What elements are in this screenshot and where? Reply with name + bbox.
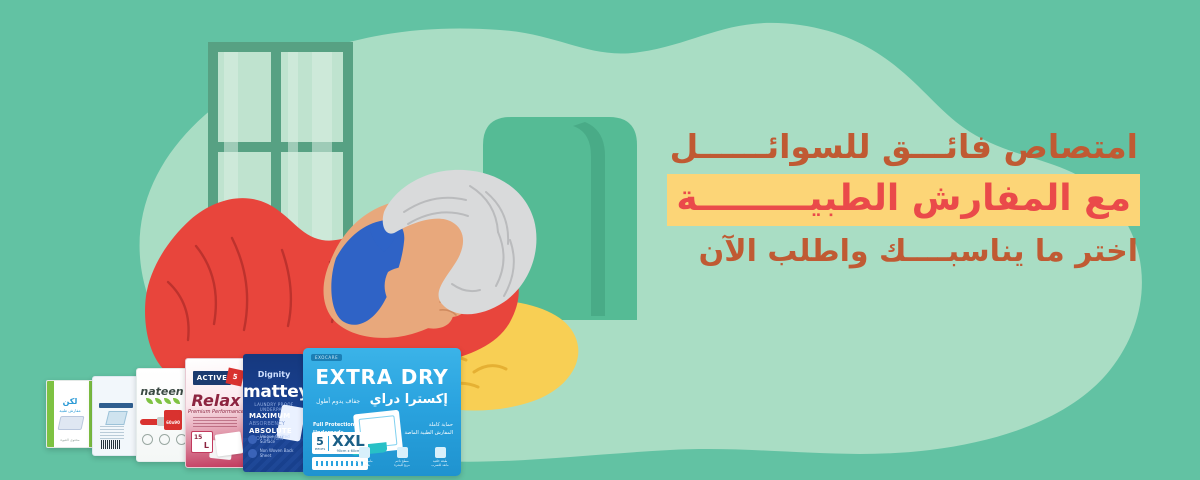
pack6-title-arabic: إكسترا دراي جفاف يدوم أطول <box>303 392 461 407</box>
product-pack-active-relax[interactable]: ACTIVE 5 Relax Premium Performance 15 L <box>185 358 247 468</box>
pack6-feature-icons: ماص للسوائل بقوة عالية سطح ناعم مريح للب… <box>349 447 455 468</box>
softness-icon <box>397 447 408 458</box>
promotional-banner: امتصاص فائـــق للسوائــــــل مع المفارش … <box>0 0 1200 480</box>
pack5-bullet-icon-1 <box>248 435 257 444</box>
pack4-size-badge: 15 L <box>191 431 213 453</box>
pack5-product-name: mattey <box>243 382 305 402</box>
pack5-bullet-1: Unique Quilted Surface <box>260 434 305 444</box>
pack5-bullet-2: Non Woven Back Sheet <box>260 448 305 458</box>
pack3-size-text: 60x90 <box>164 420 182 425</box>
pack3-brand: nateen <box>137 385 187 398</box>
headline-line-2: مع المفارش الطبيـــــــــة <box>676 181 1131 217</box>
product-pack-nateen[interactable]: nateen 60x90 <box>136 368 188 462</box>
headline-highlight-band: مع المفارش الطبيـــــــــة <box>667 174 1140 226</box>
pack6-feature-2-line2: مريح للبشرة <box>387 464 417 468</box>
pack4-count: 15 <box>194 434 202 441</box>
pack3-leaf-icons <box>146 398 180 404</box>
pack2-pad-image <box>105 411 127 425</box>
product-pack-underpad-sterile[interactable] <box>92 376 140 456</box>
pack6-count: 5 <box>312 436 328 447</box>
headline-line-1: امتصاص فائـــق للسوائــــــل <box>640 130 1140 163</box>
pack1-footer: محتوى العبوة <box>47 438 93 442</box>
pack5-claim-1: MAXIMUM <box>249 412 292 421</box>
pack4-product-name: Relax <box>186 391 246 410</box>
headline-block: امتصاص فائـــق للسوائــــــل مع المفارش … <box>640 130 1140 267</box>
pack2-brand-bar <box>99 403 133 408</box>
pack4-tagline: Premium Performance <box>186 409 246 415</box>
pack6-title-ar-main: إكسترا دراي <box>370 392 448 407</box>
pack6-title: EXTRA DRY <box>303 365 461 389</box>
droplet-icon <box>359 447 370 458</box>
product-lineup: لكن مفارش طبية محتوى العبوة nateen 60x90 <box>0 320 480 480</box>
pack1-subtitle: مفارش طبية <box>47 408 93 413</box>
pack4-pad-front <box>215 431 244 456</box>
pack1-brand: لكن <box>47 397 93 406</box>
pack4-description-lines <box>193 417 237 429</box>
pack6-feature-1: ماص للسوائل بقوة عالية <box>349 447 379 468</box>
pack6-feature-2: سطح ناعم مريح للبشرة <box>387 447 417 468</box>
pack6-feature-right: حماية كاملة المفارش الطبية الماصة <box>404 422 453 437</box>
pack6-feature-left-1: Full Protection <box>313 422 354 430</box>
pack2-barcode <box>101 440 121 449</box>
shield-icon <box>435 447 446 458</box>
pack6-feature-right-2: المفارش الطبية الماصة <box>404 430 453 438</box>
pack6-brand-pill: EXOCARE <box>311 354 342 361</box>
pack6-count-label: PIECES <box>312 447 328 451</box>
pack3-feature-icons <box>142 434 187 445</box>
product-pack-arabic-green[interactable]: لكن مفارش طبية محتوى العبوة <box>46 380 94 448</box>
pack6-feature-3: طبقة خلفية مانعة للتسرب <box>425 447 455 468</box>
pack1-pad-image <box>58 416 85 430</box>
product-pack-dignity-mattey[interactable]: Dignity mattey LAUNDRY PROOF UNDERPADS M… <box>243 354 305 472</box>
pack6-feature-right-1: حماية كاملة <box>404 422 453 430</box>
pack6-title-ar-sub: جفاف يدوم أطول <box>316 398 360 405</box>
pack4-promo-burst: 5 <box>226 368 245 387</box>
product-pack-extra-dry[interactable]: EXOCARE EXTRA DRY إكسترا دراي جفاف يدوم … <box>303 348 461 476</box>
pack2-feature-lines <box>100 426 124 441</box>
pack6-feature-3-line2: مانعة للتسرب <box>425 464 455 468</box>
pack5-bullets: Unique Quilted Surface Non Woven Back Sh… <box>248 434 305 462</box>
pack5-brand: Dignity <box>243 370 305 379</box>
headline-line-3: اختر ما يناسبــــك واطلب الآن <box>640 237 1140 267</box>
pack3-size-badge: 60x90 <box>164 410 182 430</box>
pack5-bullet-icon-2 <box>248 449 257 458</box>
pack6-count-block: 5 PIECES <box>312 436 329 451</box>
pack6-feature-1-line2: بقوة عالية <box>349 464 379 468</box>
pack4-burst-number: 5 <box>226 371 243 382</box>
pack4-size: L <box>204 441 209 450</box>
